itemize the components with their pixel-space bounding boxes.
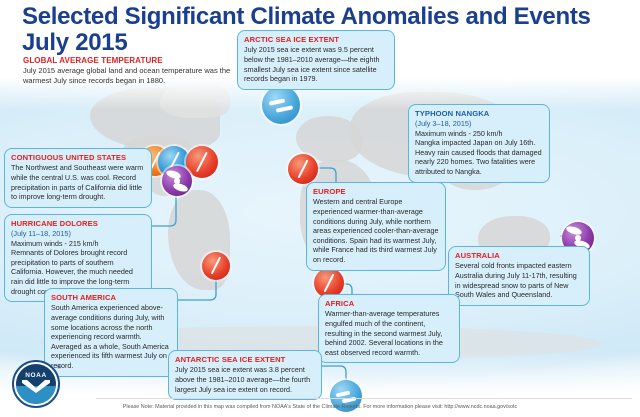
callout-antarctic-sea-ice[interactable]: ANTARCTIC SEA ICE EXTENT July 2015 sea i… — [168, 350, 322, 400]
infographic-canvas: Selected Significant Climate Anomalies a… — [0, 0, 640, 417]
thermometer-icon — [297, 159, 308, 178]
callout-body: Several cold fronts impacted eastern Aus… — [455, 261, 583, 299]
callout-max-winds: Maximum winds - 250 km/h — [415, 129, 543, 138]
callout-heading: AFRICA — [325, 299, 453, 308]
ice-floe-shape — [269, 98, 285, 105]
landmass-greenland — [160, 82, 230, 118]
callout-australia[interactable]: AUSTRALIA Several cold fronts impacted e… — [448, 246, 590, 306]
marker-arctic-sea-ice[interactable] — [262, 86, 300, 124]
callout-body: South America experienced above-average … — [51, 303, 171, 370]
cyclone-eye — [174, 178, 179, 183]
callout-typhoon-nangka[interactable]: TYPHOON NANGKA (July 3–18, 2015) Maximum… — [408, 104, 550, 183]
global-average-temperature-heading: GLOBAL AVERAGE TEMPERATURE — [23, 56, 163, 65]
callout-arctic-sea-ice[interactable]: ARCTIC SEA ICE EXTENT July 2015 sea ice … — [237, 30, 395, 90]
footer-note: Please Note: Material provided in this m… — [0, 404, 640, 410]
cyclone-arm — [565, 225, 582, 237]
callout-europe[interactable]: EUROPE Western and central Europe experi… — [306, 182, 446, 271]
callout-body: Nangka impacted Japan on July 16th. Heav… — [415, 138, 543, 176]
thermometer-icon — [211, 257, 222, 275]
callout-body: Warmer-than-average temperatures engulfe… — [325, 309, 453, 357]
cyclone-eye — [575, 235, 581, 241]
page-title-line2: July 2015 — [22, 30, 127, 56]
thermometer-icon — [196, 152, 208, 172]
callout-heading: HURRICANE DOLORES — [11, 219, 145, 228]
marker-us-southeast-warm[interactable] — [186, 146, 218, 178]
callout-heading: SOUTH AMERICA — [51, 293, 171, 302]
callout-contiguous-united-states[interactable]: CONTIGUOUS UNITED STATES The Northwest a… — [4, 148, 152, 208]
callout-date: (July 11–18, 2015) — [11, 229, 145, 238]
callout-body: Western and central Europe experienced w… — [313, 197, 439, 264]
landmass-north-america — [90, 88, 220, 150]
marker-south-america[interactable] — [202, 252, 230, 280]
marker-hurricane-dolores[interactable] — [162, 166, 192, 196]
noaa-logo-text: NOAA — [25, 372, 47, 379]
ice-floe-shape-2 — [276, 105, 293, 112]
ice-floe-shape — [336, 391, 350, 397]
noaa-logo-inner: NOAA — [16, 364, 56, 404]
callout-heading: CONTIGUOUS UNITED STATES — [11, 153, 145, 162]
callout-south-america[interactable]: SOUTH AMERICA South America experienced … — [44, 288, 178, 377]
callout-heading: EUROPE — [313, 187, 439, 196]
callout-heading: ANTARCTIC SEA ICE EXTENT — [175, 355, 315, 364]
callout-max-winds: Maximum winds - 215 km/h — [11, 239, 145, 248]
callout-heading: AUSTRALIA — [455, 251, 583, 260]
callout-body: July 2015 sea ice extent was 3.8 percent… — [175, 365, 315, 394]
callout-date: (July 3–18, 2015) — [415, 119, 543, 128]
global-average-temperature-body: July 2015 average global land and ocean … — [23, 66, 253, 86]
footer-divider — [96, 398, 632, 399]
thermometer-icon — [323, 273, 334, 292]
callout-body: The Northwest and Southeast were warm wh… — [11, 163, 145, 201]
callout-africa[interactable]: AFRICA Warmer-than-average temperatures … — [318, 294, 460, 363]
callout-heading: TYPHOON NANGKA — [415, 109, 543, 118]
callout-heading: ARCTIC SEA ICE EXTENT — [244, 35, 388, 44]
noaa-logo: NOAA ✳ — [10, 360, 62, 410]
callout-body: July 2015 sea ice extent was 9.5 percent… — [244, 45, 388, 83]
registered-mark-icon: ✳ — [56, 363, 62, 371]
page-title-line1: Selected Significant Climate Anomalies a… — [22, 4, 591, 30]
marker-europe[interactable] — [288, 154, 318, 184]
